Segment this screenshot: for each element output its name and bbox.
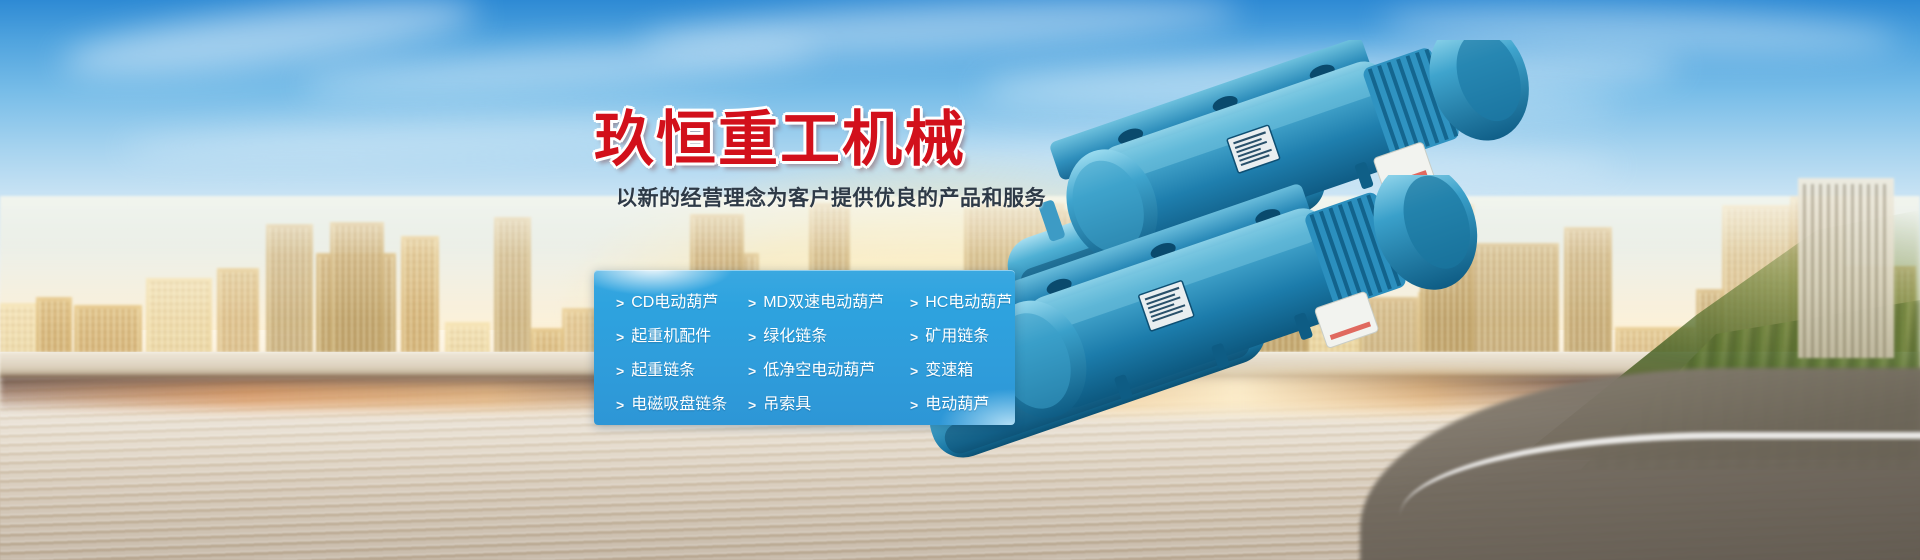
product-link[interactable]: >绿化链条 [748,329,910,345]
chevron-right-icon: > [910,364,918,378]
product-link[interactable]: >电动葫芦 [910,397,1015,413]
product-link[interactable]: >MD双速电动葫芦 [748,295,910,311]
product-illustration-group [1040,40,1800,470]
chevron-right-icon: > [910,398,918,412]
product-link[interactable]: >变速箱 [910,363,1015,379]
headline-block: 玖恒重工机械 以新的经营理念为客户提供优良的产品和服务 [594,110,1024,209]
product-link-label: CD电动葫芦 [631,295,718,311]
product-link-label: 起重链条 [631,363,695,379]
product-link-label: 绿化链条 [763,329,827,345]
chevron-right-icon: > [748,398,756,412]
chevron-right-icon: > [616,364,624,378]
page-title: 玖恒重工机械 [594,110,1024,170]
product-link[interactable]: >低净空电动葫芦 [748,363,910,379]
product-link-label: 电磁吸盘链条 [631,397,727,413]
product-link[interactable]: >CD电动葫芦 [616,295,748,311]
product-link-label: HC电动葫芦 [925,295,1012,311]
chevron-right-icon: > [910,296,918,310]
product-link-label: 矿用链条 [925,329,989,345]
chevron-right-icon: > [748,330,756,344]
product-link-label: 变速箱 [925,363,973,379]
chevron-right-icon: > [910,330,918,344]
product-link[interactable]: >吊索具 [748,397,910,413]
product-link-label: 吊索具 [763,397,811,413]
product-link-label: 起重机配件 [631,329,711,345]
product-links-panel: >CD电动葫芦>MD双速电动葫芦>HC电动葫芦>起重机配件>绿化链条>矿用链条>… [594,270,1015,425]
right-tower-building [1798,178,1894,358]
chevron-right-icon: > [748,296,756,310]
chevron-right-icon: > [616,398,624,412]
chevron-right-icon: > [616,330,624,344]
product-link[interactable]: >起重机配件 [616,329,748,345]
page-subtitle: 以新的经营理念为客户提供优良的产品和服务 [616,188,1024,209]
product-link[interactable]: >HC电动葫芦 [910,295,1015,311]
product-link[interactable]: >起重链条 [616,363,748,379]
product-link[interactable]: >矿用链条 [910,329,1015,345]
hero-banner: 玖恒重工机械 以新的经营理念为客户提供优良的产品和服务 >CD电动葫芦>MD双速… [0,0,1920,560]
product-link-label: 低净空电动葫芦 [763,363,875,379]
cloud-streak [58,0,481,89]
product-link[interactable]: >电磁吸盘链条 [616,397,748,413]
product-link-label: 电动葫芦 [925,397,989,413]
chevron-right-icon: > [748,364,756,378]
cloud-streak [299,30,821,106]
chevron-right-icon: > [616,296,624,310]
product-links-grid: >CD电动葫芦>MD双速电动葫芦>HC电动葫芦>起重机配件>绿化链条>矿用链条>… [616,286,1015,422]
product-link-label: MD双速电动葫芦 [763,295,884,311]
